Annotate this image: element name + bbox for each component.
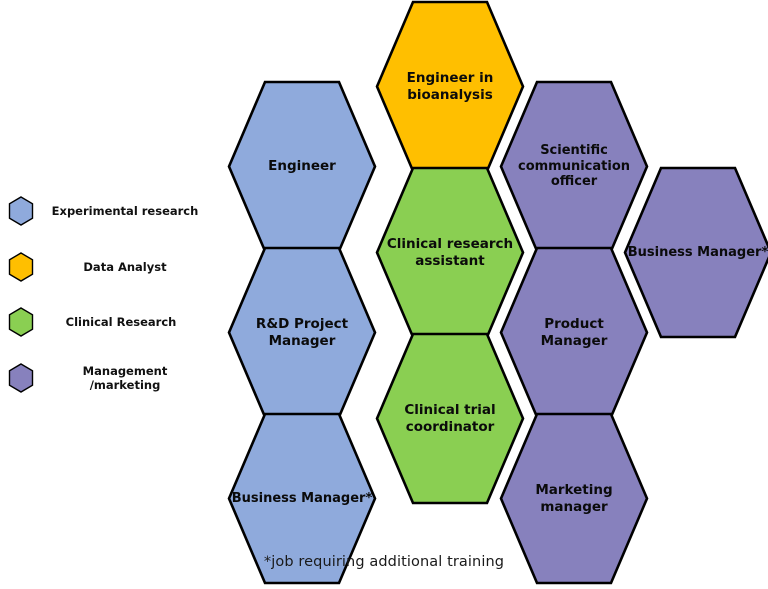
hex-engineer[interactable]: Engineer (227, 80, 377, 253)
hexagon-career-diagram: Experimental research Data Analyst Clini… (0, 0, 768, 585)
hex-rd-project-manager[interactable]: R&D Project Manager (227, 246, 377, 419)
footnote: *job requiring additional training (0, 554, 768, 570)
hexagon-grid: Engineer in bioanalysis Engineer Scienti… (0, 0, 768, 585)
